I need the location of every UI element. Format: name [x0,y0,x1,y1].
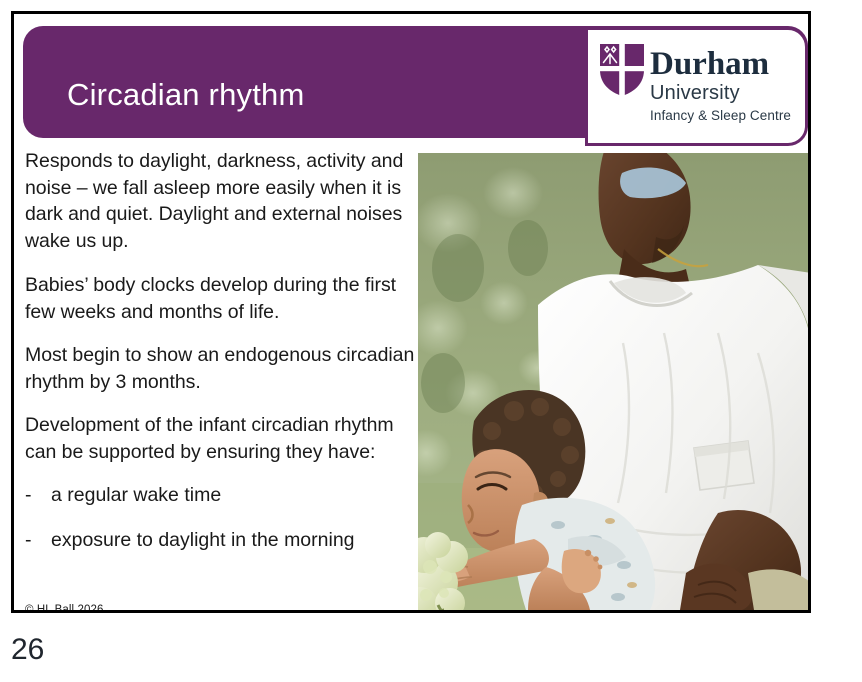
logo-wordmark: Durham [650,48,769,81]
slide-photo [418,153,811,610]
bullet-label: exposure to daylight in the morning [51,527,417,554]
logo-centre-name: Infancy & Sleep Centre [650,107,791,124]
slide-frame: Circadian rhythm Durham University Infan… [11,11,811,613]
page-title: Circadian rhythm [67,76,305,114]
slide-page: Circadian rhythm Durham University Infan… [0,0,862,682]
page-number: 26 [11,632,44,668]
slide-body-text: Responds to daylight, darkness, activity… [25,148,417,603]
bullet-marker-icon: - [25,482,51,509]
logo-institution: University [650,82,740,105]
bullet-label: a regular wake time [51,482,417,509]
copyright-notice: © HL Ball 2026 [25,603,104,613]
list-item: - a regular wake time [25,482,417,509]
body-bullet-list: - a regular wake time - exposure to dayl… [25,482,417,553]
bullet-marker-icon: - [25,527,51,554]
durham-shield-icon [600,44,644,96]
photo-father-and-baby [418,153,811,610]
list-item: - exposure to daylight in the morning [25,527,417,554]
body-paragraph-2: Babies’ body clocks develop during the f… [25,272,417,325]
durham-university-logo: Durham University Infancy & Sleep Centre [585,27,808,146]
body-paragraph-1: Responds to daylight, darkness, activity… [25,148,417,254]
body-paragraph-3: Most begin to show an endogenous circadi… [25,342,417,395]
body-paragraph-4: Development of the infant circadian rhyt… [25,412,417,465]
